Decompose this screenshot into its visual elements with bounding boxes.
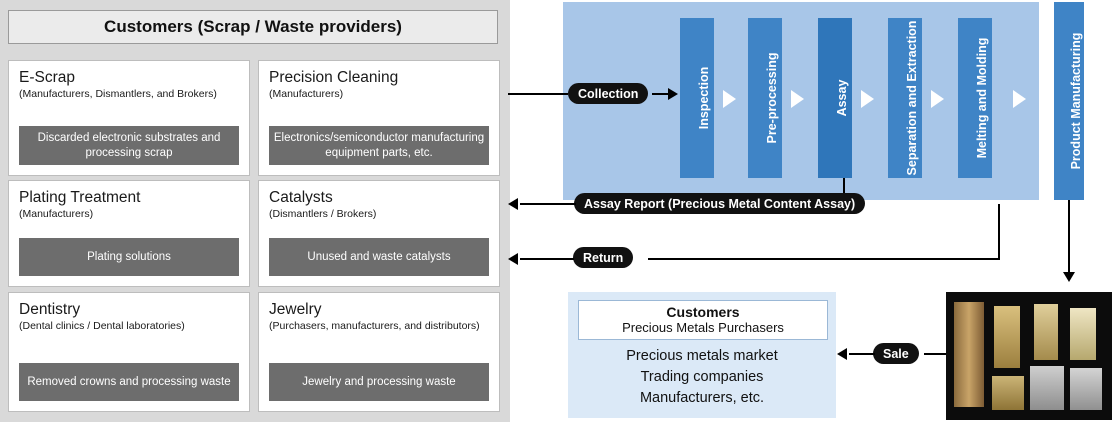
arrow-separation-to-melting-icon — [931, 90, 944, 108]
customers-panel-title: Customers (Scrap / Waste providers) — [8, 10, 498, 44]
customer-card-plating-treatment: Plating Treatment (Manufacturers) Platin… — [8, 180, 250, 287]
arrow-assay-to-separation-icon — [861, 90, 874, 108]
card-detail: Plating solutions — [19, 238, 239, 276]
card-detail: Removed crowns and processing waste — [19, 363, 239, 401]
label-sale: Sale — [873, 343, 919, 364]
card-subtitle: (Manufacturers) — [19, 208, 249, 220]
diagram-root: Customers (Scrap / Waste providers) E-Sc… — [0, 0, 1114, 422]
buyers-header: Customers Precious Metals Purchasers — [578, 300, 828, 340]
collection-line-left — [508, 93, 568, 95]
process-stage-melting-and-molding: Melting and Molding — [958, 18, 992, 178]
customer-card-e-scrap: E-Scrap (Manufacturers, Dismantlers, and… — [8, 60, 250, 176]
product-to-photo-line — [1068, 200, 1070, 272]
process-stage-separation-and-extraction: Separation and Extraction — [888, 18, 922, 178]
stage-label: Assay — [835, 80, 849, 117]
card-heading: Dentistry — [19, 301, 249, 318]
stage-label: Product Manufacturing — [1069, 33, 1083, 170]
photo-bar-5 — [1030, 366, 1064, 410]
label-collection: Collection — [568, 83, 648, 104]
card-subtitle: (Purchasers, manufacturers, and distribu… — [269, 320, 499, 332]
process-stage-assay: Assay — [818, 18, 852, 178]
return-arrow-icon — [508, 253, 518, 265]
card-heading: Catalysts — [269, 189, 499, 206]
assay-report-arrow-icon — [508, 198, 518, 210]
stage-label: Separation and Extraction — [905, 21, 919, 176]
process-stage-product-manufacturing: Product Manufacturing — [1054, 2, 1084, 200]
assay-report-line-left — [520, 203, 576, 205]
card-detail: Jewelry and processing waste — [269, 363, 489, 401]
card-subtitle: (Dental clinics / Dental laboratories) — [19, 320, 249, 332]
customers-panel: Customers (Scrap / Waste providers) E-Sc… — [0, 0, 510, 422]
card-detail: Discarded electronic substrates and proc… — [19, 126, 239, 165]
return-line-horizontal — [648, 258, 1000, 260]
return-line-vertical — [998, 204, 1000, 259]
customer-card-dentistry: Dentistry (Dental clinics / Dental labor… — [8, 292, 250, 412]
precious-metal-products-photo — [946, 292, 1112, 420]
card-heading: Jewelry — [269, 301, 499, 318]
photo-bar-4 — [1034, 304, 1058, 360]
arrow-melting-to-product-icon — [1013, 90, 1026, 108]
customer-card-precision-cleaning: Precision Cleaning (Manufacturers) Elect… — [258, 60, 500, 176]
photo-bar-2 — [994, 306, 1020, 368]
return-line-left — [520, 258, 574, 260]
card-subtitle: (Dismantlers / Brokers) — [269, 208, 499, 220]
stage-label: Pre-processing — [765, 52, 779, 143]
stage-label: Inspection — [697, 67, 711, 130]
card-heading: E-Scrap — [19, 69, 249, 86]
collection-arrow-icon — [668, 88, 678, 100]
card-detail: Unused and waste catalysts — [269, 238, 489, 276]
label-assay-report: Assay Report (Precious Metal Content Ass… — [574, 193, 865, 214]
sale-line-left — [849, 353, 875, 355]
customer-card-catalysts: Catalysts (Dismantlers / Brokers) Unused… — [258, 180, 500, 287]
collection-line-right — [652, 93, 668, 95]
process-stage-pre-processing: Pre-processing — [748, 18, 782, 178]
card-subtitle: (Manufacturers, Dismantlers, and Brokers… — [19, 88, 249, 100]
customer-card-jewelry: Jewelry (Purchasers, manufacturers, and … — [258, 292, 500, 412]
buyers-list: Precious metals market Trading companies… — [568, 346, 836, 409]
product-to-photo-arrow-icon — [1063, 272, 1075, 282]
photo-bar-7 — [1070, 368, 1102, 410]
arrow-inspection-to-preprocessing-icon — [723, 90, 736, 108]
buyers-subtitle: Precious Metals Purchasers — [622, 320, 784, 336]
photo-bar-3 — [992, 376, 1024, 410]
process-stage-inspection: Inspection — [680, 18, 714, 178]
card-subtitle: (Manufacturers) — [269, 88, 499, 100]
arrow-preprocessing-to-assay-icon — [791, 90, 804, 108]
card-heading: Plating Treatment — [19, 189, 249, 206]
photo-bar-1 — [954, 302, 984, 407]
card-heading: Precision Cleaning — [269, 69, 499, 86]
card-detail: Electronics/semiconductor manufacturing … — [269, 126, 489, 165]
photo-bar-6 — [1070, 308, 1096, 360]
sale-line-right — [924, 353, 946, 355]
buyers-list-item: Manufacturers, etc. — [568, 388, 836, 409]
label-return: Return — [573, 247, 633, 268]
stage-label: Melting and Molding — [975, 38, 989, 159]
buyers-list-item: Trading companies — [568, 367, 836, 388]
sale-arrow-icon — [837, 348, 847, 360]
buyers-title: Customers — [666, 305, 739, 320]
buyers-list-item: Precious metals market — [568, 346, 836, 367]
precious-metals-purchasers-box: Customers Precious Metals Purchasers Pre… — [568, 292, 836, 418]
